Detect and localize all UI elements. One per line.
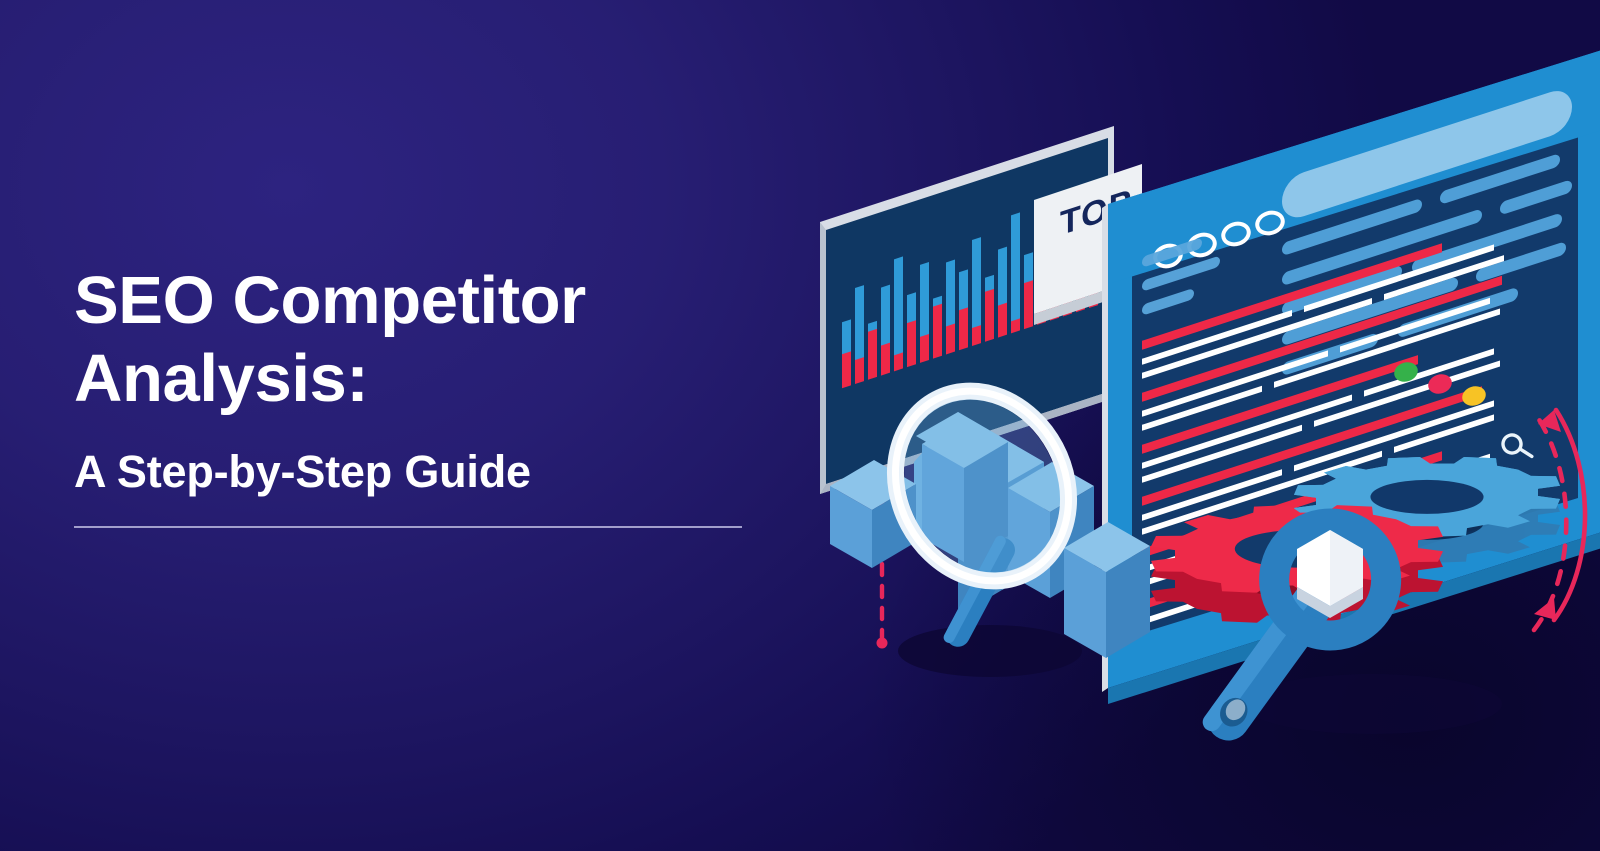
title-underline-rule [74,526,742,528]
shadow-wrench [1242,674,1502,734]
page-subtitle: A Step-by-Step Guide [74,417,774,497]
seo-banner: SEO Competitor Analysis: A Step-by-Step … [0,0,1600,851]
illustration-isometric-seo-scene: TOP [812,96,1600,776]
shadow-magnifier [898,625,1082,677]
headline-block: SEO Competitor Analysis: A Step-by-Step … [74,262,774,528]
page-title: SEO Competitor Analysis: [74,262,774,417]
